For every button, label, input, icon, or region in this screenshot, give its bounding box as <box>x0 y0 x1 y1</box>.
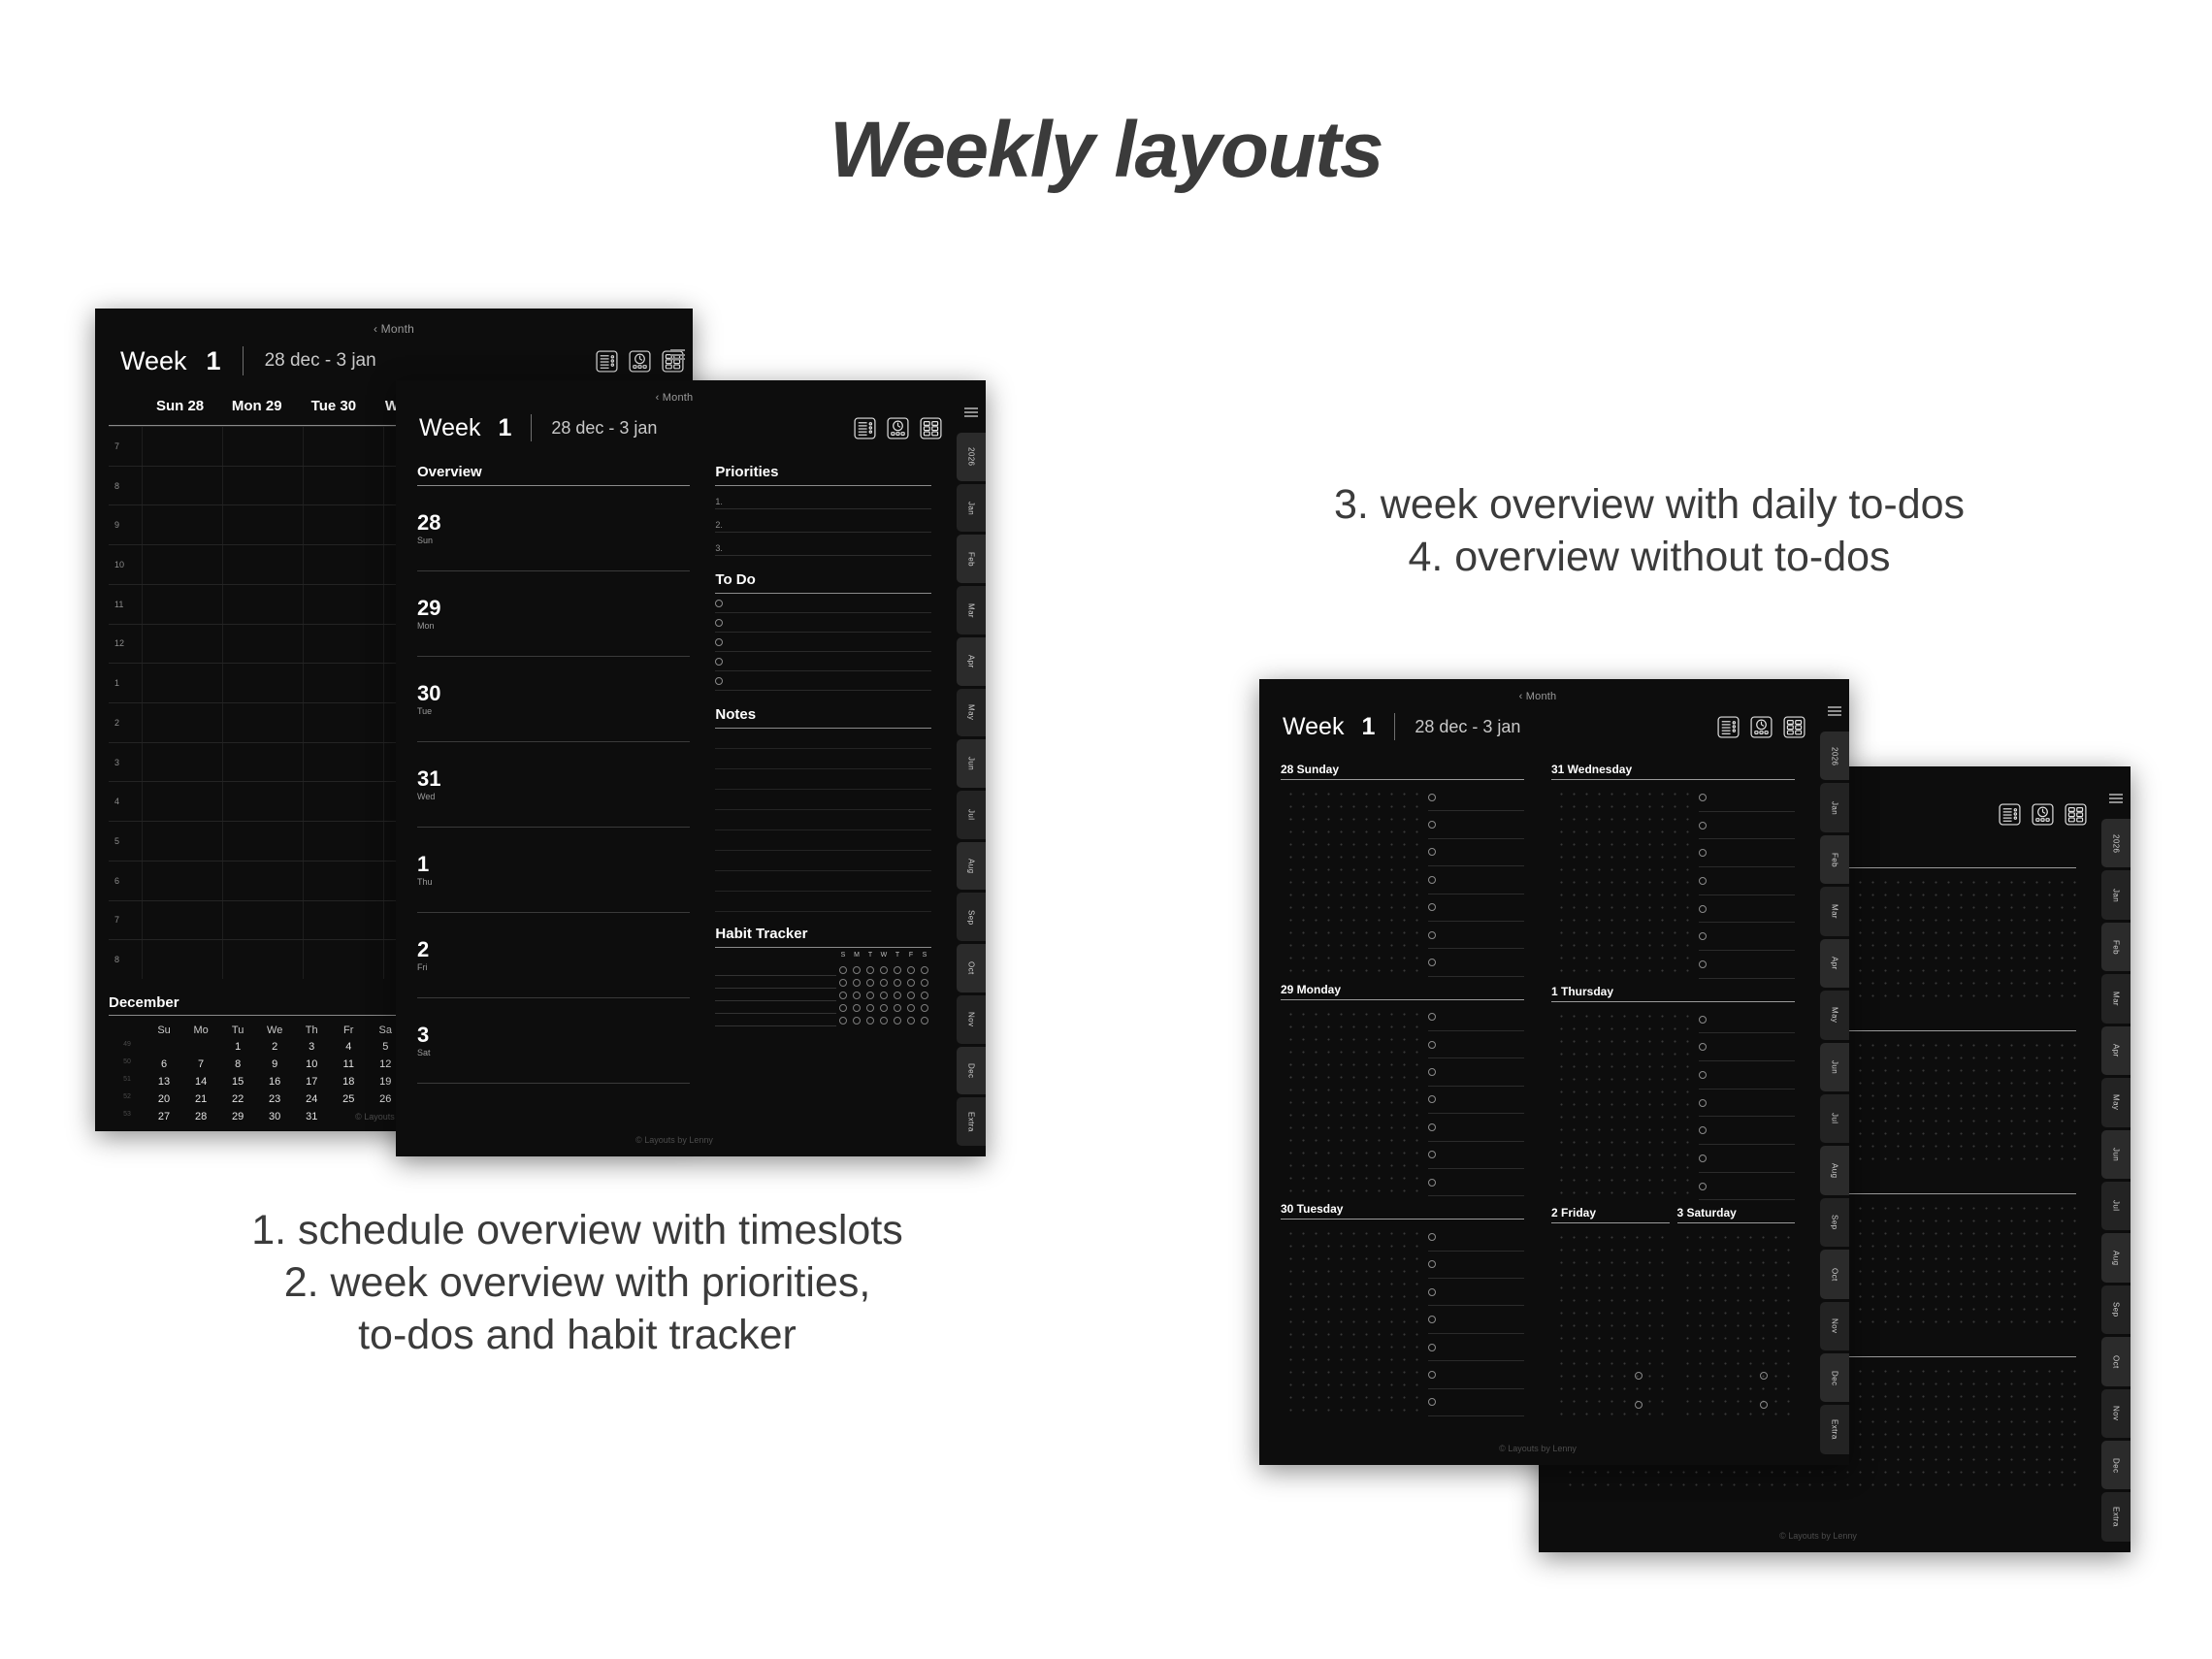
day-todo-row[interactable] <box>1428 1004 1524 1031</box>
overview-day[interactable]: 31Wed <box>417 742 690 828</box>
day-todo-row[interactable] <box>1428 1114 1524 1141</box>
habit-dot[interactable] <box>866 1017 874 1025</box>
day-todo-row[interactable] <box>1699 1006 1795 1034</box>
day-todo-checkbox[interactable] <box>1699 905 1707 913</box>
notes-rows[interactable] <box>715 729 931 912</box>
tab-jun[interactable]: Jun <box>2101 1130 2131 1179</box>
view-switcher[interactable] <box>1716 715 1816 739</box>
notes-line[interactable] <box>715 810 931 830</box>
schedule-cell[interactable] <box>222 862 303 900</box>
day-todo-checkbox[interactable] <box>1699 877 1707 885</box>
habit-dot-grid[interactable] <box>836 963 931 1026</box>
tab-nov[interactable]: Nov <box>1820 1302 1849 1350</box>
day-body[interactable] <box>1281 1004 1524 1197</box>
tab-extra[interactable]: Extra <box>1820 1405 1849 1453</box>
day-todo-row[interactable] <box>1428 866 1524 894</box>
habit-dot[interactable] <box>866 966 874 974</box>
card3-day-block[interactable]: 1 Thursday <box>1551 985 1795 1201</box>
tab-jun[interactable]: Jun <box>957 739 986 788</box>
todo-row[interactable] <box>715 613 931 633</box>
mini-calendar-day[interactable]: 20 <box>146 1090 182 1108</box>
habit-cell[interactable] <box>836 1004 850 1012</box>
day-todo-row[interactable] <box>1428 1169 1524 1196</box>
habit-cell[interactable] <box>836 1017 850 1025</box>
mini-calendar-day[interactable]: 8 <box>219 1056 256 1073</box>
day-todo-checkbox[interactable] <box>1428 848 1436 856</box>
habit-row[interactable] <box>836 976 931 989</box>
tab-jan[interactable]: Jan <box>957 484 986 533</box>
tab-list[interactable]: 2026JanFebMarAprMayJunJulAugSepOctNovDec… <box>1816 732 1849 1465</box>
habit-dot[interactable] <box>921 992 928 999</box>
schedule-cell[interactable] <box>222 505 303 544</box>
mini-calendar-day[interactable]: 6 <box>146 1056 182 1073</box>
mini-calendar-day[interactable]: 3 <box>293 1038 330 1056</box>
day-dot-grid[interactable] <box>1281 784 1422 977</box>
schedule-cell[interactable] <box>303 505 383 544</box>
habit-cell[interactable] <box>904 992 918 999</box>
day-todo-checkbox[interactable] <box>1428 959 1436 966</box>
habit-dot[interactable] <box>880 979 888 987</box>
day-todo-row[interactable] <box>1428 811 1524 838</box>
overview-day[interactable]: 2Fri <box>417 913 690 998</box>
day-todo-checkbox[interactable] <box>1428 1371 1436 1379</box>
day-todo-list[interactable] <box>1422 1004 1524 1197</box>
schedule-cell[interactable] <box>222 940 303 979</box>
tab-may[interactable]: May <box>957 689 986 737</box>
overview-day[interactable]: 29Mon <box>417 571 690 657</box>
day-todo-checkbox[interactable] <box>1428 1123 1436 1131</box>
tab-extra[interactable]: Extra <box>2101 1492 2131 1541</box>
day-body[interactable] <box>1551 784 1795 979</box>
tab-feb[interactable]: Feb <box>2101 923 2131 971</box>
habit-name-line[interactable] <box>715 1014 836 1026</box>
tab-dec[interactable]: Dec <box>1820 1353 1849 1402</box>
blocks-view-icon[interactable] <box>2064 802 2088 827</box>
habit-dot[interactable] <box>921 979 928 987</box>
list-view-icon[interactable] <box>1998 802 2022 827</box>
mini-calendar-day[interactable]: 24 <box>293 1090 330 1108</box>
day-todo-checkbox[interactable] <box>1428 1095 1436 1103</box>
schedule-cell[interactable] <box>142 585 222 624</box>
view-switcher[interactable] <box>1998 802 2098 827</box>
tab-list[interactable]: 2026JanFebMarAprMayJunJulAugSepOctNovDec… <box>2098 819 2131 1552</box>
day-todo-checkbox[interactable] <box>1699 1016 1707 1024</box>
view-switcher[interactable] <box>853 416 953 440</box>
habit-cell[interactable] <box>850 966 863 974</box>
overview-section[interactable]: Overview 28Sun29Mon30Tue31Wed1Thu2Fri3Sa… <box>417 464 715 1112</box>
day-body[interactable] <box>1281 1223 1524 1416</box>
mini-calendar-day[interactable]: 9 <box>256 1056 293 1073</box>
habit-row[interactable] <box>836 1014 931 1026</box>
habit-dot[interactable] <box>921 1017 928 1025</box>
habit-dot[interactable] <box>907 1017 915 1025</box>
day-todo-checkbox[interactable] <box>1428 1398 1436 1406</box>
overview-day[interactable]: 28Sun <box>417 486 690 571</box>
card3-day-block[interactable]: 31 Wednesday <box>1551 763 1795 979</box>
tab-apr[interactable]: Apr <box>957 637 986 686</box>
day-todo-row[interactable] <box>1428 1058 1524 1086</box>
priority-row[interactable]: 2. <box>715 509 931 533</box>
tab-feb[interactable]: Feb <box>957 535 986 583</box>
schedule-cell[interactable] <box>222 703 303 742</box>
habit-dot[interactable] <box>839 992 847 999</box>
schedule-cell[interactable] <box>142 901 222 940</box>
habit-dot[interactable] <box>894 1004 901 1012</box>
rail-menu-icon-slot[interactable] <box>1816 683 1849 732</box>
habit-dot[interactable] <box>853 966 861 974</box>
day-body[interactable] <box>1281 784 1524 977</box>
habit-cell[interactable] <box>850 979 863 987</box>
tab-aug[interactable]: Aug <box>957 842 986 891</box>
list-view-icon[interactable] <box>853 416 877 440</box>
day-todo-row[interactable] <box>1699 1033 1795 1061</box>
schedule-cell[interactable] <box>142 505 222 544</box>
schedule-cell[interactable] <box>303 782 383 821</box>
habit-row[interactable] <box>836 1001 931 1014</box>
card3-split-row[interactable]: 2 Friday3 Saturday <box>1551 1206 1795 1422</box>
schedule-cell[interactable] <box>222 743 303 782</box>
day-dot-grid[interactable] <box>1281 1223 1422 1416</box>
day-dot-grid[interactable] <box>1281 1004 1422 1197</box>
todo-checkbox[interactable] <box>715 600 723 607</box>
tab-apr[interactable]: Apr <box>2101 1026 2131 1075</box>
todo-checkbox[interactable] <box>715 658 723 666</box>
schedule-cell[interactable] <box>142 664 222 702</box>
tab-mar[interactable]: Mar <box>1820 887 1849 935</box>
todo-checkbox[interactable] <box>715 677 723 685</box>
habit-cell[interactable] <box>918 1004 931 1012</box>
day-todo-row[interactable] <box>1699 867 1795 895</box>
day-todo-checkbox[interactable] <box>1699 1183 1707 1190</box>
schedule-cell[interactable] <box>222 901 303 940</box>
tab-jan[interactable]: Jan <box>2101 870 2131 919</box>
planner-card-week-overview-priorities[interactable]: ‹ Month Week 1 28 dec - 3 jan <box>396 380 986 1156</box>
habit-cell[interactable] <box>836 966 850 974</box>
schedule-cell[interactable] <box>142 467 222 505</box>
habit-cell[interactable] <box>877 966 891 974</box>
tab-sep[interactable]: Sep <box>957 893 986 941</box>
habit-dot[interactable] <box>839 966 847 974</box>
tab-apr[interactable]: Apr <box>1820 939 1849 988</box>
habit-cell[interactable] <box>891 992 904 999</box>
day-todo-checkbox[interactable] <box>1428 1316 1436 1323</box>
schedule-cell[interactable] <box>222 822 303 861</box>
card3-left-column[interactable]: 28 Sunday29 Monday30 Tuesday <box>1281 763 1538 1422</box>
day-view-icon[interactable] <box>886 416 910 440</box>
schedule-cell[interactable] <box>142 822 222 861</box>
day-todo-checkbox[interactable] <box>1635 1401 1643 1409</box>
mini-calendar-day[interactable]: 7 <box>182 1056 219 1073</box>
habit-cell[interactable] <box>918 992 931 999</box>
habit-dot[interactable] <box>839 1017 847 1025</box>
day-todo-row[interactable] <box>1428 1087 1524 1114</box>
schedule-cell[interactable] <box>142 427 222 466</box>
notes-line[interactable] <box>715 851 931 871</box>
mini-calendar-december[interactable]: December SuMoTuWeThFrSa49123455067891011… <box>109 994 419 1127</box>
tab-2026[interactable]: 2026 <box>2101 819 2131 867</box>
schedule-cell[interactable] <box>303 467 383 505</box>
habit-dot[interactable] <box>839 1004 847 1012</box>
day-todo-checkbox[interactable] <box>1428 876 1436 884</box>
day-todo-checkbox[interactable] <box>1699 1155 1707 1162</box>
priority-row[interactable]: 1. <box>715 486 931 509</box>
day-todo-list[interactable] <box>1422 1223 1524 1416</box>
card3-day-block[interactable]: 28 Sunday <box>1281 763 1524 977</box>
hamburger-menu-icon[interactable] <box>1828 706 1841 716</box>
notes-line[interactable] <box>715 830 931 851</box>
day-todo-checkbox[interactable] <box>1699 1043 1707 1051</box>
habit-name-line[interactable] <box>715 976 836 989</box>
day-todo-checkbox[interactable] <box>1699 1126 1707 1134</box>
habit-cell[interactable] <box>850 992 863 999</box>
list-view-icon[interactable] <box>595 349 619 374</box>
schedule-cell[interactable] <box>303 585 383 624</box>
habit-cell[interactable] <box>863 966 877 974</box>
list-view-icon[interactable] <box>1716 715 1740 739</box>
habit-name-lines[interactable] <box>715 952 836 1026</box>
day-todo-checkbox[interactable] <box>1428 1260 1436 1268</box>
overview-day[interactable]: 1Thu <box>417 828 690 913</box>
mini-calendar-day[interactable]: 2 <box>256 1038 293 1056</box>
habit-dot[interactable] <box>880 992 888 999</box>
day-todo-checkbox[interactable] <box>1699 794 1707 801</box>
habit-grid[interactable]: SMTWTFS <box>836 952 931 1026</box>
day-todo-row[interactable] <box>1699 1090 1795 1118</box>
tab-jan[interactable]: Jan <box>1820 783 1849 831</box>
day-todo-row[interactable] <box>1428 1389 1524 1416</box>
day-todo-checkbox[interactable] <box>1428 1344 1436 1351</box>
habit-dot[interactable] <box>880 1017 888 1025</box>
habit-name-line[interactable] <box>715 989 836 1001</box>
day-todo-row[interactable] <box>1699 1117 1795 1145</box>
mini-calendar-day[interactable]: 15 <box>219 1073 256 1090</box>
habit-dot[interactable] <box>866 992 874 999</box>
habit-cell[interactable] <box>836 992 850 999</box>
habit-dot[interactable] <box>894 1017 901 1025</box>
habit-dot[interactable] <box>894 979 901 987</box>
tab-2026[interactable]: 2026 <box>1820 732 1849 780</box>
mini-calendar-day[interactable]: 21 <box>182 1090 219 1108</box>
blocks-view-icon[interactable] <box>1782 715 1806 739</box>
todo-rows[interactable] <box>715 594 931 691</box>
mini-calendar-day[interactable]: 10 <box>293 1056 330 1073</box>
todo-row[interactable] <box>715 652 931 671</box>
habit-cell[interactable] <box>918 979 931 987</box>
month-tab-rail[interactable]: 2026JanFebMarAprMayJunJulAugSepOctNovDec… <box>2098 766 2131 1552</box>
day-view-icon[interactable] <box>2031 802 2055 827</box>
tab-may[interactable]: May <box>2101 1078 2131 1126</box>
day-todo-row[interactable] <box>1428 1334 1524 1361</box>
habit-dot[interactable] <box>866 1004 874 1012</box>
habit-dot[interactable] <box>907 966 915 974</box>
day-todo-checkbox[interactable] <box>1699 822 1707 829</box>
day-todo-row[interactable] <box>1699 839 1795 867</box>
habit-cell[interactable] <box>877 1017 891 1025</box>
day-todo-checkbox[interactable] <box>1428 794 1436 801</box>
habit-cell[interactable] <box>891 979 904 987</box>
notes-line[interactable] <box>715 729 931 749</box>
day-dot-grid[interactable] <box>1677 1227 1796 1422</box>
day-todo-row[interactable] <box>1699 1061 1795 1090</box>
habit-dot[interactable] <box>880 966 888 974</box>
habit-dot[interactable] <box>907 979 915 987</box>
habit-dot[interactable] <box>921 1004 928 1012</box>
day-todo-checkbox[interactable] <box>1635 1372 1643 1380</box>
overview-day[interactable]: 30Tue <box>417 657 690 742</box>
day-todo-checkbox[interactable] <box>1428 1288 1436 1296</box>
habit-cell[interactable] <box>891 1017 904 1025</box>
schedule-cell[interactable] <box>142 862 222 900</box>
notes-section[interactable]: Notes <box>715 706 931 912</box>
day-dot-grid[interactable] <box>1551 1227 1670 1422</box>
day-body[interactable] <box>1551 1006 1795 1201</box>
tab-jul[interactable]: Jul <box>1820 1094 1849 1143</box>
tab-jul[interactable]: Jul <box>957 791 986 839</box>
habit-cell[interactable] <box>863 992 877 999</box>
tab-oct[interactable]: Oct <box>1820 1250 1849 1298</box>
day-todo-row[interactable] <box>1428 784 1524 811</box>
mini-calendar-day[interactable]: 11 <box>330 1056 367 1073</box>
month-back-link[interactable]: ‹ Month <box>396 392 953 404</box>
day-todo-row[interactable] <box>1428 839 1524 866</box>
habit-dot[interactable] <box>894 966 901 974</box>
mini-calendar-day[interactable]: 18 <box>330 1073 367 1090</box>
schedule-cell[interactable] <box>303 822 383 861</box>
tab-aug[interactable]: Aug <box>2101 1233 2131 1282</box>
todo-row[interactable] <box>715 633 931 652</box>
day-todo-row[interactable] <box>1699 1173 1795 1201</box>
notes-line[interactable] <box>715 749 931 769</box>
habit-dot[interactable] <box>853 992 861 999</box>
mini-calendar-day[interactable]: 1 <box>219 1038 256 1056</box>
month-tab-rail[interactable]: 2026JanFebMarAprMayJunJulAugSepOctNovDec… <box>1816 679 1849 1465</box>
habit-cell[interactable] <box>918 966 931 974</box>
mini-calendar-day[interactable]: 25 <box>330 1090 367 1108</box>
mini-calendar-day[interactable] <box>182 1038 219 1056</box>
schedule-cell[interactable] <box>142 545 222 584</box>
schedule-cell[interactable] <box>303 901 383 940</box>
schedule-cell[interactable] <box>303 862 383 900</box>
mini-calendar-day[interactable] <box>146 1038 182 1056</box>
habit-dot[interactable] <box>853 1004 861 1012</box>
schedule-cell[interactable] <box>303 940 383 979</box>
habit-dot[interactable] <box>839 979 847 987</box>
card3-day-block[interactable]: 29 Monday <box>1281 983 1524 1197</box>
overview-day[interactable]: 3Sat <box>417 998 690 1084</box>
day-todo-checkbox[interactable] <box>1699 1071 1707 1079</box>
habit-cell[interactable] <box>877 992 891 999</box>
habit-dot[interactable] <box>907 1004 915 1012</box>
notes-line[interactable] <box>715 790 931 810</box>
habit-cell[interactable] <box>863 979 877 987</box>
mini-calendar-day[interactable]: 22 <box>219 1090 256 1108</box>
schedule-cell[interactable] <box>303 664 383 702</box>
habit-cell[interactable] <box>904 1017 918 1025</box>
day-todo-row[interactable] <box>1699 923 1795 951</box>
tab-nov[interactable]: Nov <box>957 995 986 1044</box>
tab-mar[interactable]: Mar <box>957 586 986 634</box>
day-todo-row[interactable] <box>1699 1145 1795 1173</box>
day-todo-row[interactable] <box>1428 1306 1524 1333</box>
schedule-cell[interactable] <box>222 467 303 505</box>
tab-may[interactable]: May <box>1820 991 1849 1039</box>
habit-row[interactable] <box>836 963 931 976</box>
notes-line[interactable] <box>715 892 931 912</box>
todo-section[interactable]: To Do <box>715 571 931 691</box>
day-todo-checkbox[interactable] <box>1428 1041 1436 1049</box>
day-todo-checkbox[interactable] <box>1760 1401 1768 1409</box>
day-todo-row[interactable] <box>1699 784 1795 812</box>
schedule-cell[interactable] <box>303 427 383 466</box>
tab-dec[interactable]: Dec <box>957 1047 986 1095</box>
habit-name-line[interactable] <box>715 963 836 976</box>
day-view-icon[interactable] <box>628 349 652 374</box>
mini-calendar-day[interactable]: 14 <box>182 1073 219 1090</box>
blocks-view-icon[interactable] <box>919 416 943 440</box>
mini-calendar-day[interactable]: 4 <box>330 1038 367 1056</box>
day-todo-list[interactable] <box>1693 1006 1795 1201</box>
tab-list[interactable]: 2026JanFebMarAprMayJunJulAugSepOctNovDec… <box>953 433 986 1156</box>
schedule-cell[interactable] <box>142 743 222 782</box>
planner-card-week-overview-daily-todos[interactable]: ‹ Month Week 1 28 dec - 3 jan <box>1259 679 1849 1465</box>
habit-dot[interactable] <box>894 992 901 999</box>
habit-cell[interactable] <box>891 1004 904 1012</box>
day-todo-row[interactable] <box>1428 922 1524 949</box>
notes-line[interactable] <box>715 871 931 892</box>
habit-cell[interactable] <box>836 979 850 987</box>
tab-aug[interactable]: Aug <box>1820 1146 1849 1194</box>
habit-cell[interactable] <box>891 966 904 974</box>
day-view-icon[interactable] <box>1749 715 1773 739</box>
todo-row[interactable] <box>715 671 931 691</box>
notes-line[interactable] <box>715 769 931 790</box>
mini-calendar-day[interactable]: 13 <box>146 1073 182 1090</box>
habit-row[interactable] <box>836 989 931 1001</box>
day-todo-checkbox[interactable] <box>1428 1068 1436 1076</box>
tab-oct[interactable]: Oct <box>2101 1337 2131 1385</box>
habit-cell[interactable] <box>850 1004 863 1012</box>
todo-checkbox[interactable] <box>715 638 723 646</box>
schedule-cell[interactable] <box>303 545 383 584</box>
tab-jul[interactable]: Jul <box>2101 1182 2131 1230</box>
tab-feb[interactable]: Feb <box>1820 835 1849 884</box>
schedule-cell[interactable] <box>222 545 303 584</box>
day-todo-row[interactable] <box>1428 895 1524 922</box>
card2-right-column[interactable]: Priorities 1.2.3. To Do Notes <box>715 464 931 1112</box>
mini-calendar-day[interactable]: 17 <box>293 1073 330 1090</box>
schedule-cell[interactable] <box>222 427 303 466</box>
day-todo-checkbox[interactable] <box>1760 1372 1768 1380</box>
day-todo-row[interactable] <box>1699 812 1795 840</box>
rail-menu-icon-slot[interactable] <box>953 384 986 433</box>
habit-cell[interactable] <box>904 1004 918 1012</box>
day-todo-row[interactable] <box>1428 1031 1524 1058</box>
day-todo-checkbox[interactable] <box>1428 1233 1436 1241</box>
tab-dec[interactable]: Dec <box>2101 1441 2131 1489</box>
day-dot-grid[interactable] <box>1551 1006 1693 1201</box>
habit-dot[interactable] <box>921 966 928 974</box>
day-todo-checkbox[interactable] <box>1699 932 1707 940</box>
habit-dot[interactable] <box>853 979 861 987</box>
schedule-cell[interactable] <box>303 703 383 742</box>
todo-checkbox[interactable] <box>715 619 723 627</box>
schedule-cell[interactable] <box>142 782 222 821</box>
day-todo-checkbox[interactable] <box>1428 903 1436 911</box>
habit-cell[interactable] <box>904 979 918 987</box>
habit-tracker-body[interactable]: SMTWTFS <box>715 952 931 1026</box>
habit-cell[interactable] <box>877 979 891 987</box>
day-todo-checkbox[interactable] <box>1428 931 1436 939</box>
